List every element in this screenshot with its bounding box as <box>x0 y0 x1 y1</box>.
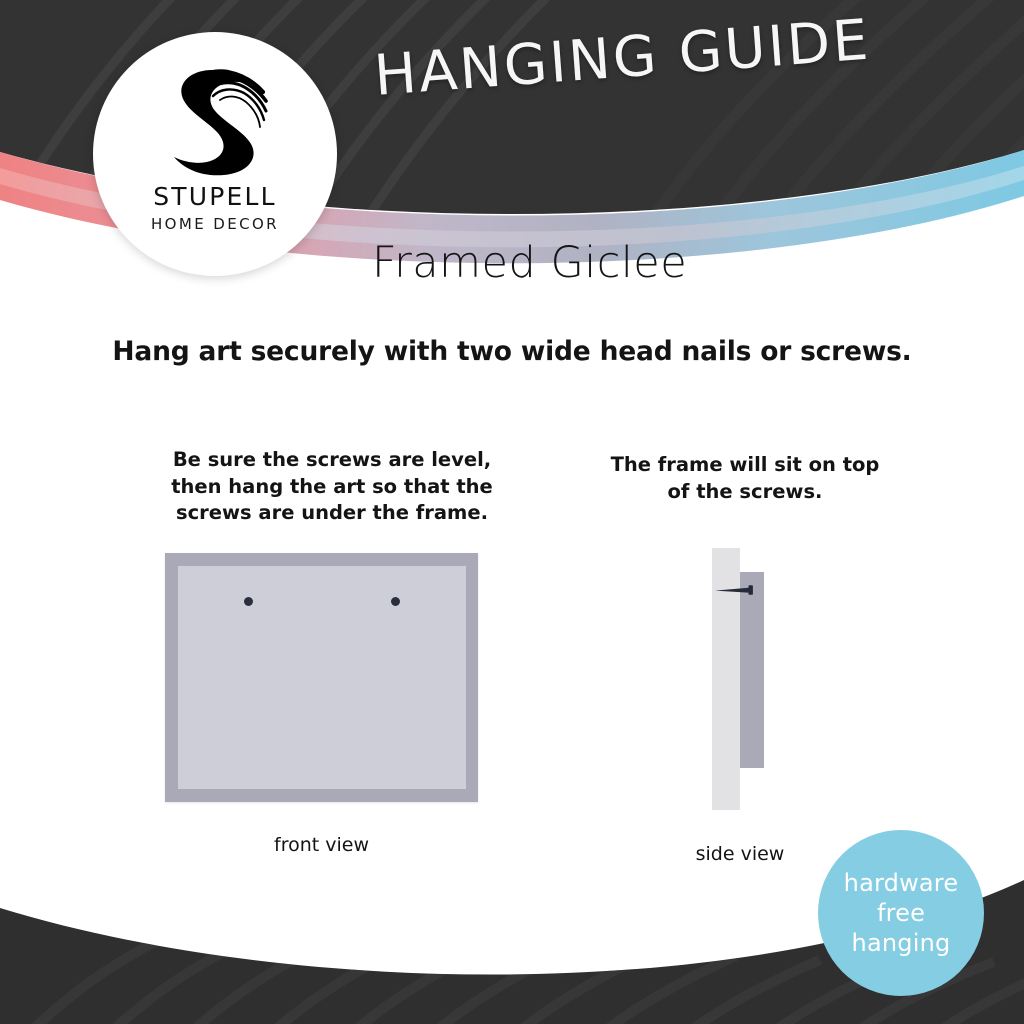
badge-line-3: hanging <box>852 928 951 958</box>
page-title: HANGING GUIDE <box>372 8 873 109</box>
side-view-caption-line-2: of the screws. <box>590 479 900 506</box>
brand-tagline: HOME DECOR <box>93 215 337 233</box>
front-view-caption: Be sure the screws are level, then hang … <box>142 447 522 527</box>
main-instruction-text: Hang art securely with two wide head nai… <box>0 336 1024 367</box>
front-view-label: front view <box>165 834 478 856</box>
side-view-label: side view <box>650 843 830 865</box>
product-type-label: Framed Giclee <box>372 238 687 288</box>
front-view-caption-line-2: then hang the art so that the <box>142 474 522 501</box>
brand-wordmark: STUPELL <box>93 182 337 211</box>
front-view-caption-line-1: Be sure the screws are level, <box>142 447 522 474</box>
side-view-caption: The frame will sit on top of the screws. <box>590 452 900 505</box>
stupell-swoosh-logo-icon <box>156 60 274 180</box>
front-view-caption-line-3: screws are under the frame. <box>142 500 522 527</box>
badge-line-1: hardware <box>844 868 959 898</box>
side-view-caption-line-1: The frame will sit on top <box>590 452 900 479</box>
hanging-guide-page: STUPELL HOME DECOR HANGING GUIDE Framed … <box>0 0 1024 1024</box>
nail-icon <box>714 583 762 597</box>
front-view-frame-diagram <box>165 553 478 802</box>
front-view-frame-artboard <box>178 566 466 789</box>
screw-dot-right-icon <box>391 597 400 606</box>
brand-logo-badge: STUPELL HOME DECOR <box>93 32 337 276</box>
screw-dot-left-icon <box>244 597 253 606</box>
hardware-free-hanging-badge: hardware free hanging <box>818 830 984 996</box>
side-view-frame-strip <box>740 572 764 768</box>
badge-line-2: free <box>877 898 925 928</box>
